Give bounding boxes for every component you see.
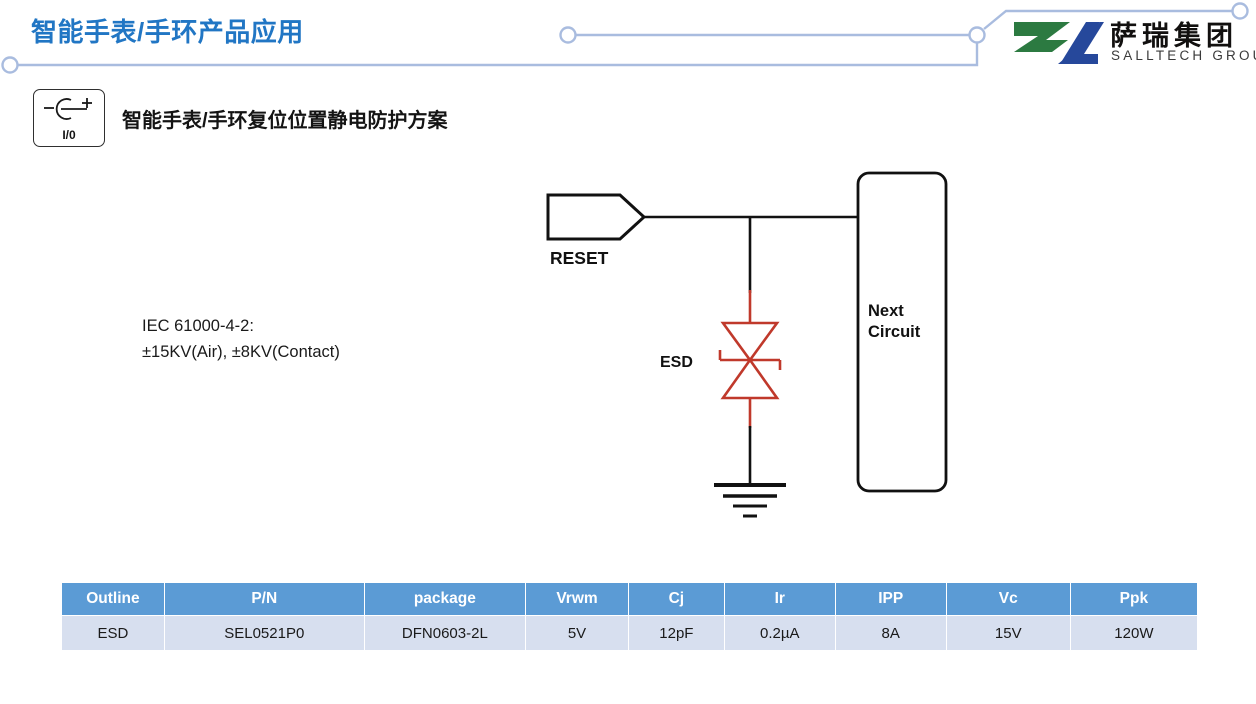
next-circuit-label-line2: Circuit	[868, 323, 921, 341]
table-header-outline: Outline	[62, 583, 164, 615]
esd-protection-circuit-diagram: RESET ESD Next Circuit	[520, 160, 980, 530]
reset-label: RESET	[550, 248, 609, 268]
cell-pn: SEL0521P0	[165, 615, 364, 650]
cell-ipp: 8A	[836, 615, 946, 650]
esd-tvs-diode-symbol	[720, 290, 780, 428]
ground-symbol-icon	[714, 485, 786, 516]
io-icon-label: I/0	[34, 128, 104, 142]
table-header-package: package	[365, 583, 525, 615]
cell-package: DFN0603-2L	[365, 615, 525, 650]
table-header-pn: P/N	[165, 583, 364, 615]
esd-label: ESD	[660, 354, 693, 371]
cell-ppk: 120W	[1071, 615, 1197, 650]
iec-line-2: ±15KV(Air), ±8KV(Contact)	[142, 339, 340, 365]
table-row: ESD SEL0521P0 DFN0603-2L 5V 12pF 0.2µA 8…	[62, 615, 1197, 650]
logo-english-name: SALLTECH GROUP	[1111, 48, 1256, 63]
io-symbol-icon	[41, 96, 97, 126]
section-subtitle: 智能手表/手环复位位置静电防护方案	[122, 104, 448, 133]
table-header-cj: Cj	[629, 583, 724, 615]
iec-standard-note: IEC 61000-4-2: ±15KV(Air), ±8KV(Contact)	[142, 313, 340, 365]
io-icon-card: I/0	[33, 89, 105, 147]
table-header-ir: Ir	[725, 583, 835, 615]
cell-ir: 0.2µA	[725, 615, 835, 650]
table-header-ipp: IPP	[836, 583, 946, 615]
table-header-ppk: Ppk	[1071, 583, 1197, 615]
spec-table: Outline P/N package Vrwm Cj Ir IPP Vc Pp…	[61, 583, 1198, 650]
cell-cj: 12pF	[629, 615, 724, 650]
cell-vrwm: 5V	[526, 615, 628, 650]
table-header-vc: Vc	[947, 583, 1070, 615]
table-header-vrwm: Vrwm	[526, 583, 628, 615]
iec-line-1: IEC 61000-4-2:	[142, 313, 340, 339]
brand-logo: 萨瑞集团 SALLTECH GROUP	[1012, 12, 1248, 74]
slide-root: 智能手表/手环产品应用 萨瑞集团 SALLTECH GROUP	[0, 0, 1256, 704]
cell-outline: ESD	[62, 615, 164, 650]
next-circuit-label-line1: Next	[868, 302, 904, 320]
salltech-logo-icon	[1012, 18, 1104, 68]
page-title: 智能手表/手环产品应用	[31, 12, 304, 49]
cell-vc: 15V	[947, 615, 1070, 650]
table-header-row: Outline P/N package Vrwm Cj Ir IPP Vc Pp…	[62, 583, 1197, 615]
reset-pin-shape	[548, 195, 644, 239]
